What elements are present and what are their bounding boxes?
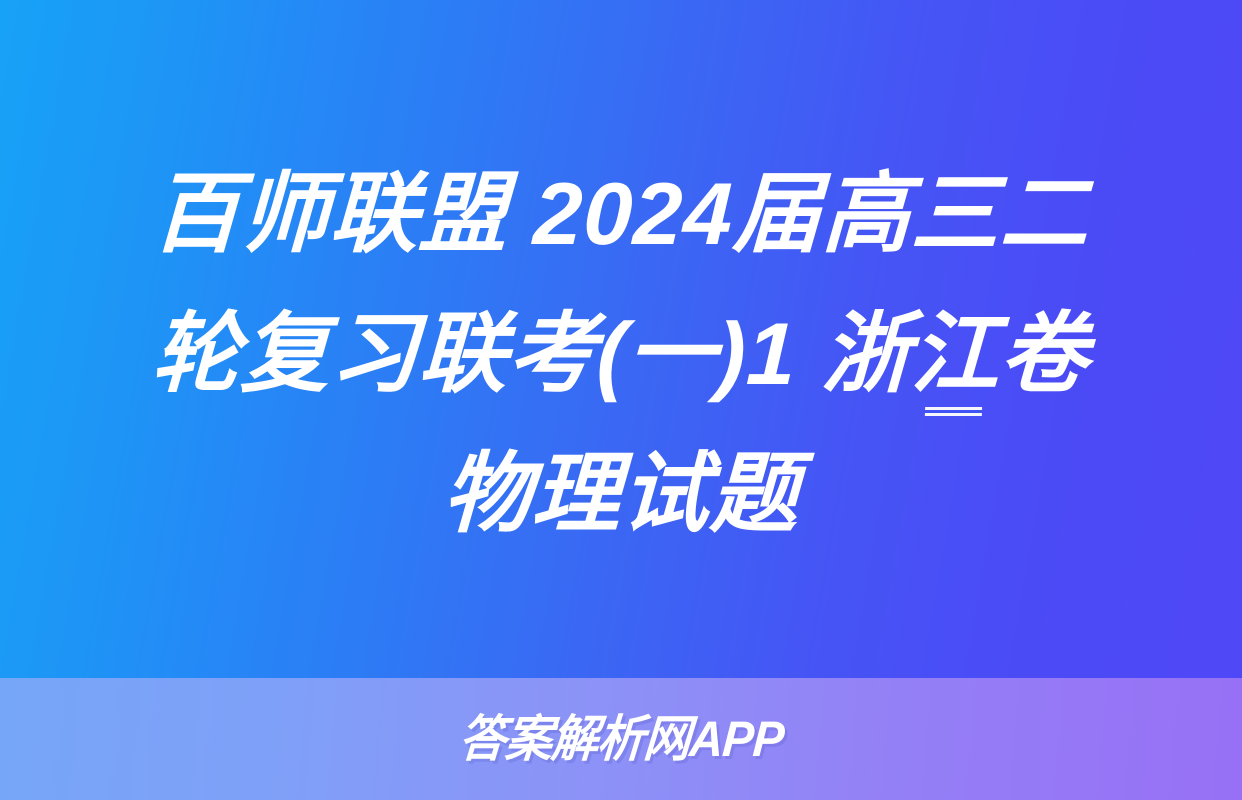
watermark-brand: 答案解析网APP <box>457 714 785 764</box>
title-line-2-head: 轮复习联考(一)1 浙 <box>151 304 913 403</box>
title-glyph-jiang-artifact: 江 <box>909 284 1003 424</box>
footer-band: 答案解析网APP <box>0 678 1242 800</box>
watermark-brand-cn: 答案解析网 <box>457 711 691 767</box>
watermark-brand-en: APP <box>687 711 785 767</box>
title-line-1: 百师联盟 2024届高三二 <box>150 144 1092 284</box>
title-block: 百师联盟 2024届高三二 轮复习联考(一)1 浙江卷 物理试题 <box>0 0 1242 678</box>
title-line-3: 物理试题 <box>441 424 802 564</box>
title-line-2-tail: 卷 <box>999 304 1091 403</box>
exam-cover-banner: 百师联盟 2024届高三二 轮复习联考(一)1 浙江卷 物理试题 答案解析网AP… <box>0 0 1242 800</box>
title-line-2: 轮复习联考(一)1 浙江卷 <box>150 284 1092 424</box>
